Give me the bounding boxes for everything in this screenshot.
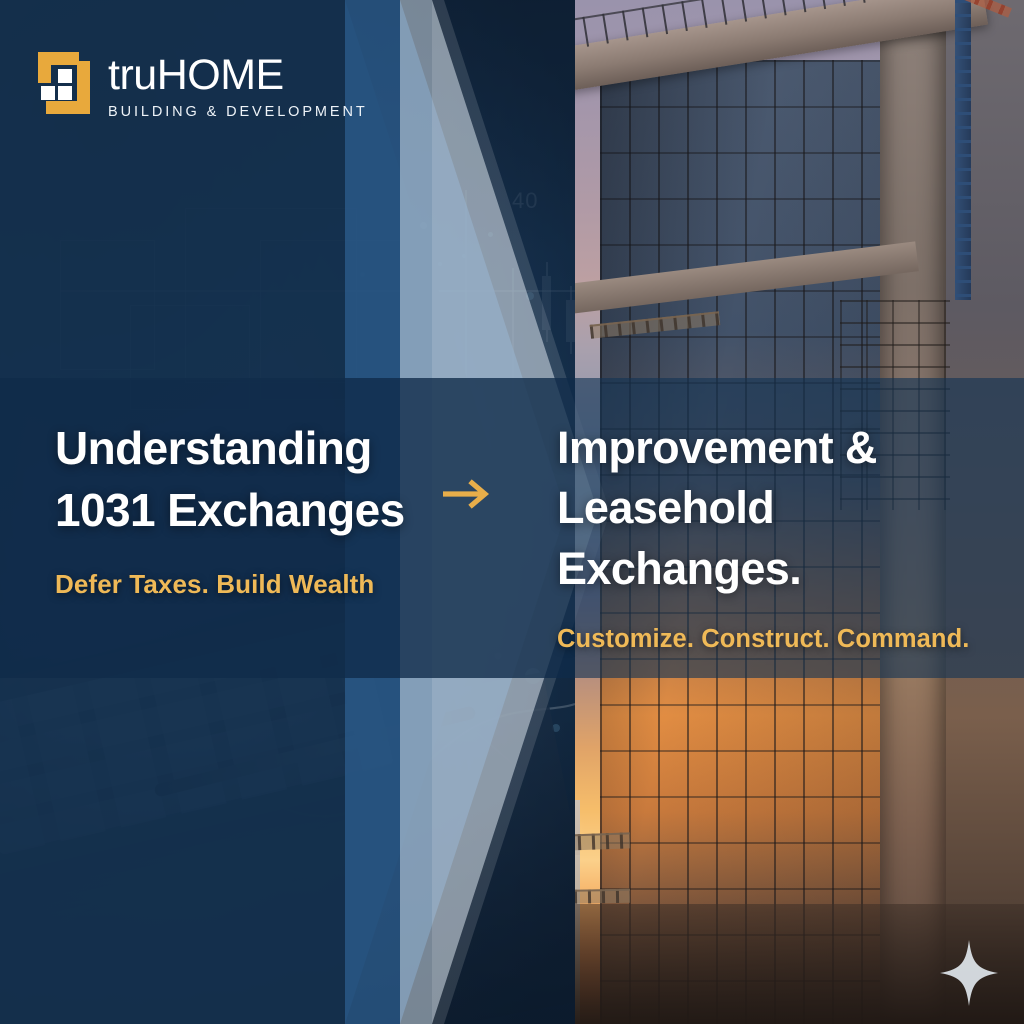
brand-logo[interactable]: truHOME BUILDING & DEVELOPMENT bbox=[38, 52, 368, 120]
logo-name: truHOME bbox=[108, 54, 368, 97]
right-headline: Improvement & Leasehold Exchanges. bbox=[557, 418, 1017, 599]
sparkle-star-icon bbox=[938, 938, 1000, 1008]
truhome-square-logo-icon bbox=[38, 52, 90, 114]
left-headline: Understanding 1031 Exchanges bbox=[55, 418, 485, 541]
left-headline-line2: 1031 Exchanges bbox=[55, 480, 485, 542]
right-headline-line2: Leasehold Exchanges. bbox=[557, 478, 1017, 599]
right-subhead: Customize. Construct. Command. bbox=[557, 625, 1017, 654]
logo-tagline: BUILDING & DEVELOPMENT bbox=[108, 104, 368, 120]
left-subhead: Defer Taxes. Build Wealth bbox=[55, 569, 485, 600]
right-copy-column: Improvement & Leasehold Exchanges. Custo… bbox=[557, 418, 1017, 654]
copy-layer: Understanding 1031 Exchanges Defer Taxes… bbox=[0, 378, 1024, 678]
crane-mast bbox=[955, 0, 971, 300]
logo-name-tru: tru bbox=[108, 51, 157, 99]
left-copy-column: Understanding 1031 Exchanges Defer Taxes… bbox=[55, 418, 485, 600]
right-headline-line1: Improvement & bbox=[557, 418, 1017, 478]
logo-wordmark: truHOME BUILDING & DEVELOPMENT bbox=[108, 52, 368, 120]
logo-name-home: HOME bbox=[157, 51, 284, 99]
arrow-right-icon bbox=[443, 477, 495, 511]
left-headline-line1: Understanding bbox=[55, 418, 485, 480]
promo-graphic-canvas: 40 bbox=[0, 0, 1024, 1024]
